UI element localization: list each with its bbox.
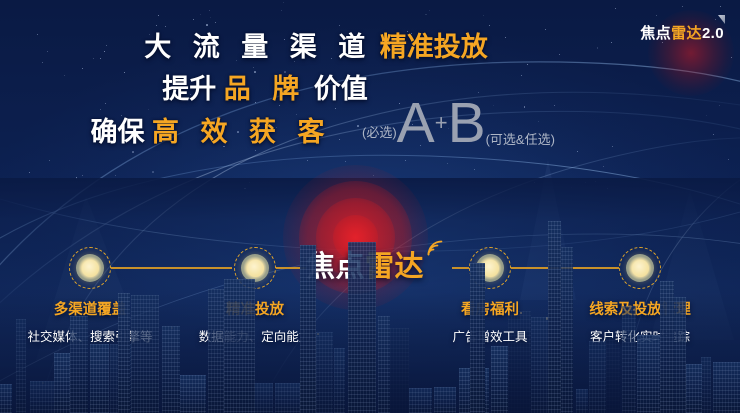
label-subtitle: 广告增效工具	[452, 326, 527, 345]
building	[16, 319, 26, 413]
timeline-label-3: 看房福利广告增效工具	[452, 298, 527, 345]
building	[30, 381, 54, 413]
building	[0, 384, 12, 413]
building	[589, 341, 606, 413]
building	[254, 383, 273, 413]
tower	[300, 245, 316, 413]
building	[559, 247, 573, 413]
building	[701, 357, 711, 413]
building	[409, 388, 432, 413]
label-title: 看房福利	[452, 298, 527, 319]
building	[348, 242, 376, 413]
building	[180, 375, 206, 413]
tower	[118, 293, 130, 413]
tower	[660, 281, 674, 413]
building	[378, 316, 390, 413]
building	[434, 387, 456, 413]
tower	[548, 221, 561, 413]
building	[491, 346, 508, 413]
building	[70, 316, 88, 413]
building	[622, 306, 636, 413]
building	[131, 295, 159, 413]
building	[576, 389, 588, 413]
building	[162, 326, 180, 413]
poster-canvas: 焦点雷达2.0 大 流 量 渠 道 精准投放 提升 品 牌 价值 确保 高 效 …	[0, 0, 740, 413]
building	[275, 383, 300, 413]
building	[686, 364, 702, 413]
tower	[470, 263, 485, 413]
building	[90, 344, 109, 413]
building	[208, 289, 224, 413]
building	[713, 362, 740, 413]
building	[224, 279, 255, 413]
building	[334, 348, 345, 413]
building	[54, 353, 70, 413]
